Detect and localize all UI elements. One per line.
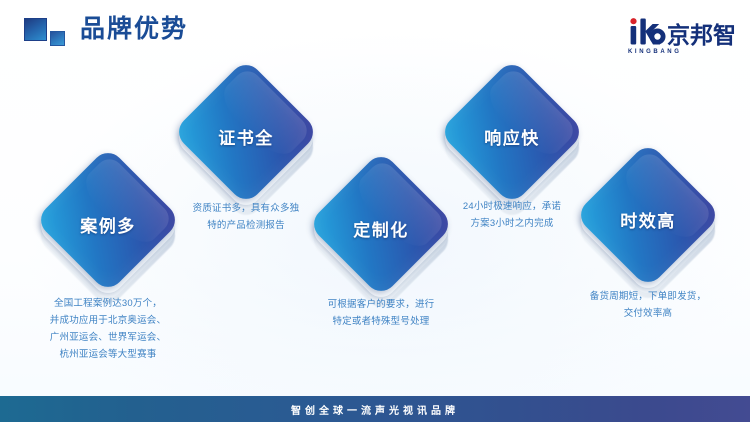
advantage-card-label: 时效高	[592, 163, 704, 275]
title-decoration-marks	[24, 18, 72, 48]
kb-logo-icon	[626, 17, 666, 47]
diamond-shape: 定制化	[325, 172, 437, 284]
advantage-card-label: 响应快	[456, 80, 568, 192]
page-title: 品牌优势	[80, 12, 188, 46]
logo-name-cn: 京邦智	[667, 23, 736, 47]
advantage-card-description: 备货周期短，下单即发货， 交付效率高	[567, 288, 729, 322]
square-mark-small-icon	[50, 31, 65, 46]
advantage-card-description: 24小时极速响应，承诺 方案3小时之内完成	[434, 198, 590, 232]
footer-slogan: 智创全球一流声光视讯品牌	[0, 396, 750, 422]
advantage-card-description: 可根据客户的要求，进行 特定或者特殊型号处理	[303, 296, 459, 330]
slide-header: 品牌优势 京邦智 KINGBANG	[0, 0, 750, 60]
diamond-shape: 证书全	[190, 80, 302, 192]
slide-root: 品牌优势 京邦智 KINGBANG 案例多	[0, 0, 750, 422]
square-mark-large-icon	[24, 18, 47, 41]
advantage-card-label: 定制化	[325, 172, 437, 284]
footer-bar: 智创全球一流声光视讯品牌	[0, 396, 750, 422]
logo-name-en: KINGBANG	[628, 48, 681, 56]
diamond-shape: 响应快	[456, 80, 568, 192]
diamond-shape: 案例多	[52, 168, 164, 280]
diamond-shape: 时效高	[592, 163, 704, 275]
advantage-card-label: 证书全	[190, 80, 302, 192]
advantage-card-description: 全国工程案例达30万个， 并成功应用于北京奥运会、 广州亚运会、世界军运会、 杭…	[19, 295, 197, 363]
brand-logo: 京邦智 KINGBANG	[626, 13, 736, 47]
advantage-card-description: 资质证书多，具有众多独 特的产品检测报告	[168, 200, 324, 234]
advantage-card-label: 案例多	[52, 168, 164, 280]
